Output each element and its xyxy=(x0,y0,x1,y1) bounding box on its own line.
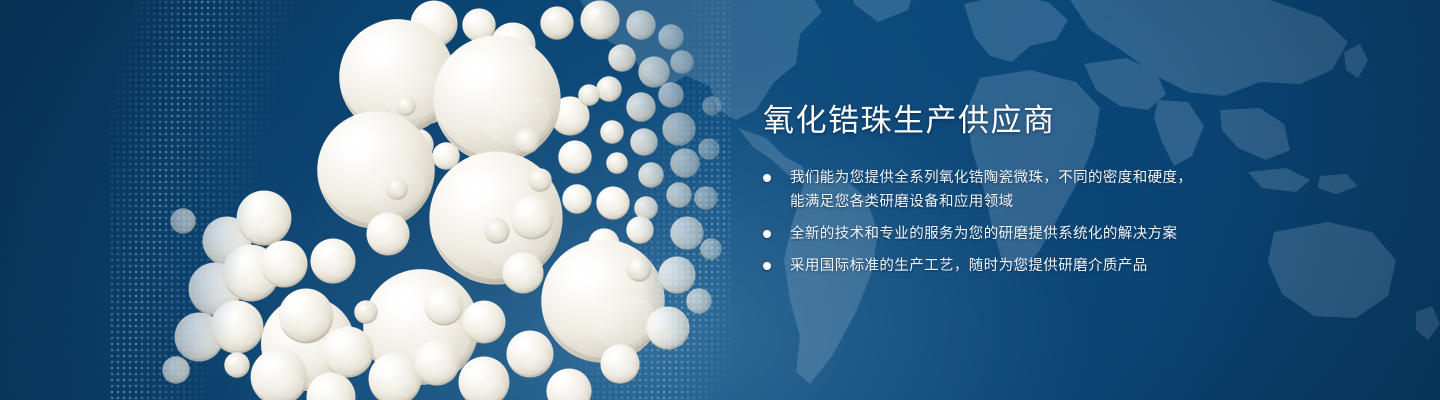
list-item: 我们能为您提供全系列氧化锆陶瓷微珠，不同的密度和硬度， 能满足您各类研磨设备和应… xyxy=(763,166,1383,214)
page-title: 氧化锆珠生产供应商 xyxy=(763,104,1383,138)
bullet-dot-icon xyxy=(763,262,771,270)
feature-bullet-list: 我们能为您提供全系列氧化锆陶瓷微珠，不同的密度和硬度， 能满足您各类研磨设备和应… xyxy=(763,166,1383,278)
bullet-line: 全新的技术和专业的服务为您的研磨提供系统化的解决方案 xyxy=(790,222,1383,246)
bullet-line: 我们能为您提供全系列氧化锆陶瓷微珠，不同的密度和硬度， xyxy=(790,166,1383,190)
banner-copy: 氧化锆珠生产供应商 我们能为您提供全系列氧化锆陶瓷微珠，不同的密度和硬度， 能满… xyxy=(763,104,1383,278)
product-hero-banner: 氧化锆珠生产供应商 我们能为您提供全系列氧化锆陶瓷微珠，不同的密度和硬度， 能满… xyxy=(0,0,1440,400)
zirconia-beads-photo xyxy=(110,0,730,400)
list-item: 全新的技术和专业的服务为您的研磨提供系统化的解决方案 xyxy=(763,222,1383,246)
bullet-line: 能满足您各类研磨设备和应用领域 xyxy=(790,190,1383,214)
bullet-dot-icon xyxy=(763,174,771,182)
list-item: 采用国际标准的生产工艺，随时为您提供研磨介质产品 xyxy=(763,254,1383,278)
bullet-dot-icon xyxy=(763,230,771,238)
bullet-line: 采用国际标准的生产工艺，随时为您提供研磨介质产品 xyxy=(790,254,1383,278)
beads-canvas xyxy=(110,0,730,400)
